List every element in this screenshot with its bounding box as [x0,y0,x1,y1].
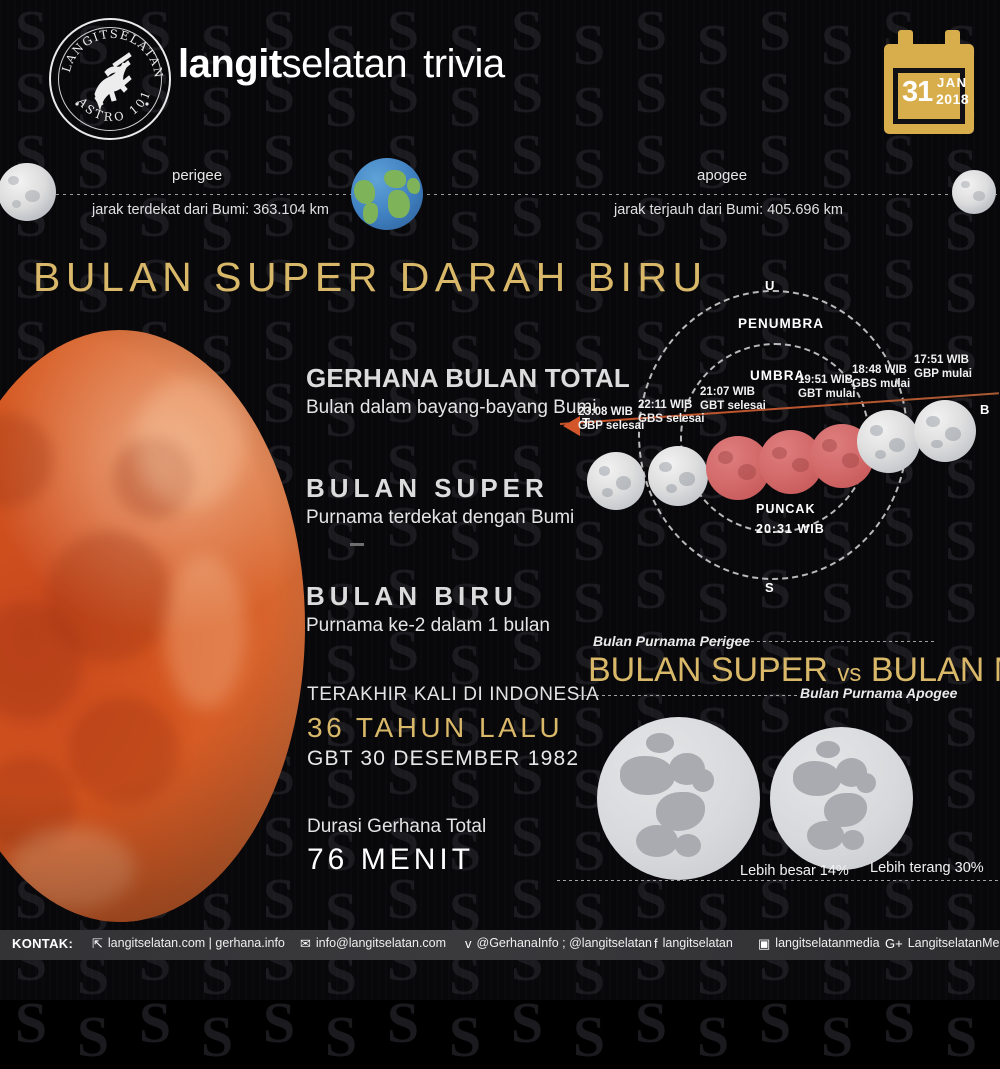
contact-facebook-text: langitselatan [663,936,733,950]
feature-bulan-biru: BULAN BIRU Purnama ke-2 dalam 1 bulan [306,581,550,637]
stat-brighter: Lebih terang 30% [870,860,984,876]
phase-time: 17:51 WIB [914,354,969,366]
envelope-icon: ✉ [300,937,311,950]
last-occurrence-block: TERAKHIR KALI DI INDONESIA 36 TAHUN LALU… [307,684,599,771]
supermoon-comparison-icon [597,717,760,880]
calendar-window: 31 JAN 2018 [893,68,965,124]
phase-time: 22:11 WIB [638,399,692,411]
contact-email-text: info@langitselatan.com [316,936,446,950]
apogee-moon-icon [952,170,996,214]
eclipse-moon-6 [857,410,920,473]
earth-icon [351,158,423,230]
feature-bulan-super: BULAN SUPER Purnama terdekat dengan Bumi [306,473,574,529]
contact-email[interactable]: ✉ info@langitselatan.com [300,936,446,950]
contact-instagram-text: langitselatanmedia [775,936,879,950]
rss-icon: ⇱ [92,937,103,950]
contact-website[interactable]: ⇱ langitselatan.com | gerhana.info [92,936,285,950]
contact-label: KONTAK: [12,936,73,951]
feature-heading: BULAN BIRU [306,581,550,612]
contact-website-text: langitselatan.com | gerhana.info [108,936,285,950]
post-label-dotted-line [578,695,798,696]
perigee-distance: jarak terdekat dari Bumi: 363.104 km [92,202,329,218]
super-vs-mini-section: Bulan Purnama Perigee BULAN SUPER vs BUL… [560,625,1000,915]
penumbra-label: PENUMBRA [738,316,824,331]
distance-dotted-line [0,194,1000,195]
perigee-moon-icon [0,163,56,221]
apogee-distance: jarak terjauh dari Bumi: 405.696 km [614,202,843,218]
duration-block: Durasi Gerhana Total 76 MENIT [307,816,486,877]
contact-googleplus-text: LangitselatanMedia [908,936,1000,950]
phase-time: 19:51 WIB [798,374,853,386]
brand-langit: langit [178,42,282,86]
duration-label: Durasi Gerhana Total [307,816,486,838]
last-occurrence-years: 36 TAHUN LALU [307,712,599,744]
eclipse-moon-1 [587,452,645,510]
calendar-month: JAN [937,75,968,90]
phase-event: GBS mulai [852,378,910,390]
contact-instagram[interactable]: ▣ langitselatanmedia [758,936,880,950]
phase-time: 18:48 WIB [852,364,907,376]
eclipse-moon-2 [648,446,708,506]
phase-event: GBS selesai [638,413,704,425]
title-left: BULAN SUPER [588,651,828,689]
cardinal-north: U [765,278,775,293]
apogee-fullmoon-label: Bulan Purnama Apogee [800,685,957,701]
stat-bigger: Lebih besar 14% [740,863,849,879]
logo-artwork-icon: LANGITSELATAN ASTRO 101 [51,20,173,142]
duration-value: 76 MENIT [307,843,486,877]
apogee-label: apogee [697,167,747,184]
phase-time: 23:08 WIB [578,406,633,418]
phase-event: GBP selesai [578,420,644,432]
feature-sub: Purnama terdekat dengan Bumi [306,507,574,529]
eclipse-phase-label-3: 21:07 WIB GBT selesai [700,385,766,413]
phase-event: GBP mulai [914,368,972,380]
peak-label: PUNCAK [756,502,815,516]
contact-googleplus[interactable]: G+ LangitselatanMedia [885,936,1000,950]
title-vs: vs [837,660,861,687]
perigee-label: perigee [172,167,222,184]
calendar-day: 31 [902,76,932,109]
calendar-icon: 31 JAN 2018 [884,30,974,134]
eclipse-phase-label-6: 18:48 WIB GBS mulai [852,363,910,391]
peak-time: 20:31 WIB [756,522,825,536]
brand-selatan: selatan [282,42,407,86]
instagram-icon: ▣ [758,937,770,950]
contact-facebook[interactable]: f langitselatan [654,936,733,950]
calendar-year: 2018 [936,91,969,107]
feature-heading: BULAN SUPER [306,473,574,504]
feature-sub: Purnama ke-2 dalam 1 bulan [306,615,550,637]
eclipse-phase-label-1: 23:08 WIB GBP selesai [578,405,644,433]
calendar-body: 31 JAN 2018 [884,44,974,134]
twitter-icon: ᴠ [465,937,472,950]
eclipse-phase-label-5: 19:51 WIB GBT mulai [798,373,856,401]
perigee-fullmoon-label: Bulan Purnama Perigee [593,633,750,649]
cardinal-south: S [765,580,775,595]
facebook-icon: f [654,937,658,950]
contact-twitter-text: @GerhanaInfo ; @langitselatan [477,936,652,950]
eclipse-phase-label-7: 17:51 WIB GBP mulai [914,353,972,381]
phase-time: 21:07 WIB [700,386,755,398]
googleplus-icon: G+ [885,937,903,950]
langitselatan-logo: LANGITSELATAN ASTRO 101 [49,18,171,140]
phase-event: GBT mulai [798,388,856,400]
brand-wordmark: langitselatantrivia [178,42,505,87]
cardinal-east: B [980,402,990,417]
minimoon-comparison-icon [770,727,913,870]
eclipse-moon-7 [914,400,976,462]
last-occurrence-label: TERAKHIR KALI DI INDONESIA [307,684,599,706]
last-occurrence-date: GBT 30 DESEMBER 1982 [307,747,599,771]
eclipse-phase-label-2: 22:11 WIB GBS selesai [638,398,704,426]
contact-twitter[interactable]: ᴠ @GerhanaInfo ; @langitselatan [465,936,652,950]
title-right: BULAN MINI [871,651,1000,689]
divider-dash [350,543,364,546]
brand-trivia: trivia [423,42,504,86]
umbra-label: UMBRA [750,368,805,383]
eclipse-path-diagram: U S T B PENUMBRA UMBRA PUNCAK 20:31 WIB … [560,270,1000,620]
stats-dotted-line [557,880,1000,881]
phase-event: GBT selesai [700,400,766,412]
